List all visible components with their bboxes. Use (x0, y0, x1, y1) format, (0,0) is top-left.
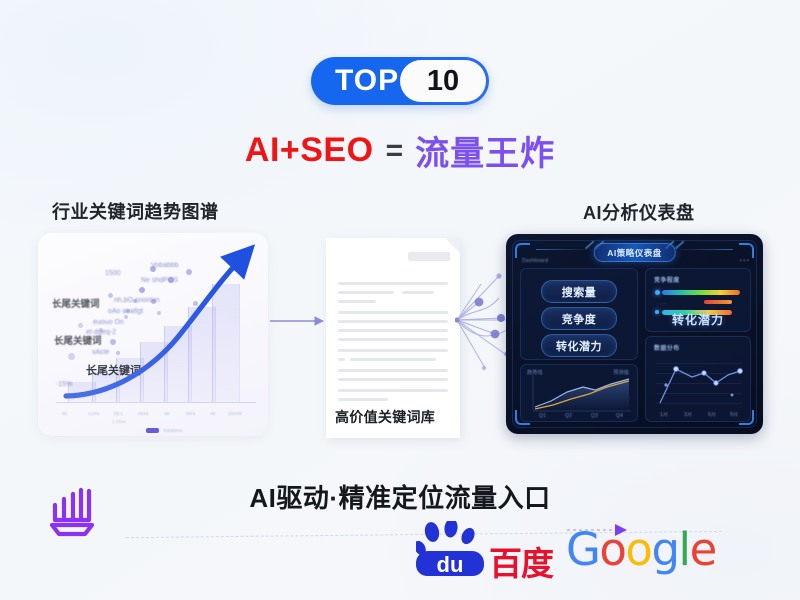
chart-x-tick: 40 (62, 411, 67, 416)
gauge-marker-dot-2 (655, 310, 659, 314)
area-tick: Q1 (539, 413, 546, 419)
chart-x-tick: 50/4 (186, 411, 195, 416)
top-badge-number: 10 (427, 65, 459, 98)
line-chart-panel: 数据分布 1月 3月 6月 9月 (645, 336, 751, 422)
frame-corner-top-left (515, 243, 530, 258)
section-caption-left: 行业关键词趋势图谱 (52, 198, 219, 224)
chart-x-tick: 2024N (228, 411, 242, 416)
baidu-logo: du 百度 (416, 521, 556, 577)
area-tick: Q2 (565, 413, 572, 419)
line-tick: 6月 (708, 411, 716, 418)
line-tick: 3月 (684, 411, 692, 418)
gauge-bar-primary (662, 290, 740, 295)
top-rank-badge: TOP 10 (311, 57, 489, 105)
google-logo: Google (566, 523, 716, 576)
gauge-panel-title: 竞争程度 (654, 275, 680, 284)
keyword-library-document-card: 高价值关键词库 (326, 238, 460, 438)
area-tick: Q4 (616, 413, 623, 419)
chart-x-tick: 2844 (138, 411, 149, 416)
top-badge-label: TOP (335, 64, 399, 98)
area-chart-panel: 趋势线 预测值 Q1 Q2 Q3 Q4 (520, 364, 638, 422)
chart-x-tick: 49 (210, 411, 215, 416)
google-letter-l: l (679, 523, 690, 576)
dashboard-corner-label: Dashboard (522, 258, 548, 264)
line-tick: 9月 (730, 411, 738, 418)
bottom-tagline: AI驱动·精准定位流量入口 (0, 478, 800, 515)
doc-card-title: 高价值关键词库 (335, 407, 435, 427)
google-letter-o2: o (625, 523, 651, 576)
headline-part-result: 流量王炸 (415, 135, 555, 173)
line-tick: 1月 (660, 411, 668, 418)
google-letter-g2: g (651, 523, 678, 576)
doc-header-chip (408, 252, 450, 261)
chart-x-tick: 114% (88, 411, 100, 416)
baidu-latin-mark: du (437, 552, 464, 577)
chart-legend-swatch (146, 428, 159, 433)
gauge-bar-alert (704, 300, 732, 304)
gauge-marker-dot (655, 290, 660, 295)
chart-x-axis (56, 402, 256, 403)
baidu-paw-icon: du (416, 521, 490, 577)
flow-arrow-icon (268, 312, 326, 330)
top-badge-number-pill: 10 (400, 60, 486, 102)
gauge-overlay-label: 转化潜力 (672, 311, 724, 328)
ai-analytics-dashboard: AI策略仪表盘 Dashboard • • • 搜索量 竞争度 转化潜力 趋势线… (506, 234, 763, 434)
brand-logos: du 百度 Google (416, 521, 716, 577)
metric-pill-search-volume[interactable]: 搜索量 (541, 280, 617, 303)
chart-legend: Volubbmo (146, 428, 183, 433)
metrics-panel: 搜索量 竞争度 转化潜力 (520, 268, 638, 360)
headline-equals-sign: = (386, 134, 404, 167)
chart-legend-label: Volubbmo (163, 428, 183, 433)
gauge-panel: 竞争程度 ........ 转化潜力 (645, 268, 751, 332)
chart-x-axis-label: 1 23ou (112, 419, 125, 424)
dashboard-header-badge: AI策略仪表盘 (593, 243, 676, 262)
metric-pill-competition[interactable]: 竞争度 (541, 307, 617, 330)
section-caption-right: AI分析仪表盘 (583, 199, 695, 225)
frame-corner-top-right (739, 243, 754, 258)
keyword-trend-chart-card: Vobabbb Ne shdPOS nh,bO snonlan oAo anal… (38, 233, 268, 436)
infographic-canvas: TOP 10 AI+SEO=流量王炸 行业关键词趋势图谱 AI分析仪表盘 (0, 0, 800, 600)
google-letter-e: e (690, 523, 716, 576)
metric-pill-conversion[interactable]: 转化潜力 (541, 334, 617, 357)
headline-part-ai-seo: AI+SEO (245, 131, 374, 169)
page-fold-corner-icon (445, 238, 460, 253)
chart-x-tick: 02.L (114, 411, 123, 416)
page-title: AI+SEO=流量王炸 (0, 126, 800, 175)
chart-x-tick: 49 (164, 411, 169, 416)
google-letter-o1: o (599, 523, 625, 576)
chart-trend-arrow-icon (38, 233, 268, 436)
google-letter-g1: G (566, 523, 599, 576)
baidu-wordmark: 百度 (489, 537, 553, 585)
area-tick: Q3 (591, 413, 598, 419)
